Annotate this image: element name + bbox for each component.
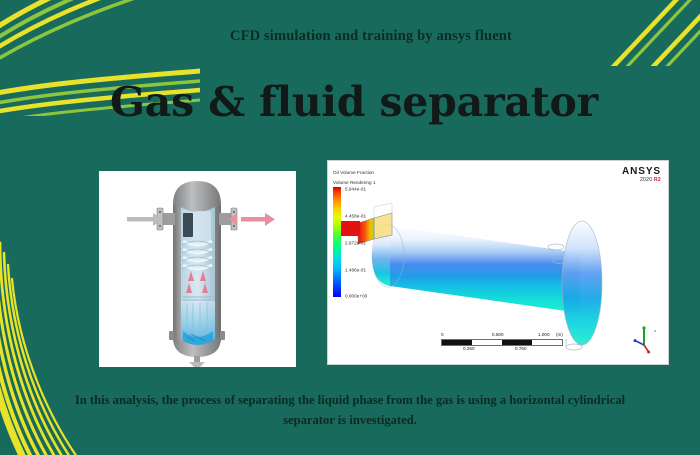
colorbar-tick-labels: 5.944e-01 4.458e-01 2.972e-01 1.486e-01 … <box>345 187 407 297</box>
separator-photo-panel <box>99 171 296 367</box>
colorbar-tick-3: 1.486e-01 <box>345 267 366 272</box>
colorbar-tick-2: 2.972e-01 <box>345 240 366 245</box>
ansys-logo-version: 2020 R2 <box>622 178 661 183</box>
cfd-result-panel: Oil Volume Fraction Volume Rendering 1 5… <box>327 160 669 365</box>
colorbar-tick-4: 0.000e+00 <box>345 293 367 298</box>
caption-line1: In this analysis, the process of separat… <box>75 393 565 407</box>
scalebar-bottom-0: 0.250 <box>463 346 475 351</box>
scalebar-unit: (m) <box>556 332 563 337</box>
colorbar-legend: Oil Volume Fraction Volume Rendering 1 5… <box>333 165 407 299</box>
axis-triad-icon <box>630 325 660 355</box>
colorbar-tick-0: 5.944e-01 <box>345 186 366 191</box>
vertical-separator-illustration <box>99 171 296 367</box>
scalebar-track <box>441 339 563 346</box>
scalebar-bottom-1: 0.750 <box>515 346 527 351</box>
scalebar-top-1: 0.500 <box>492 332 504 337</box>
subtitle: CFD simulation and training by ansys flu… <box>0 28 700 45</box>
scalebar-top-2: 1.000 <box>538 332 550 337</box>
ansys-logo-name: ANSYS <box>622 167 661 177</box>
legend-title-line2: Volume Rendering 1 <box>333 180 376 185</box>
ansys-logo-year: 2020 <box>640 177 652 183</box>
slide-canvas: CFD simulation and training by ansys flu… <box>0 0 700 455</box>
ansys-logo-release: R2 <box>654 177 661 183</box>
legend-title-line1: Oil Volume Fraction <box>333 170 374 175</box>
outlet-flow-arrow <box>229 213 275 226</box>
colorbar-gradient <box>333 187 341 297</box>
scale-bar: 0 0.500 1.000 (m) 0.250 0.750 <box>441 332 561 354</box>
scalebar-top-0: 0 <box>441 332 444 337</box>
ansys-logo: ANSYS 2020 R2 <box>622 167 661 183</box>
colorbar-tick-1: 4.458e-01 <box>345 213 366 218</box>
caption: In this analysis, the process of separat… <box>70 391 630 430</box>
page-title: Gas & fluid separator <box>0 78 700 126</box>
